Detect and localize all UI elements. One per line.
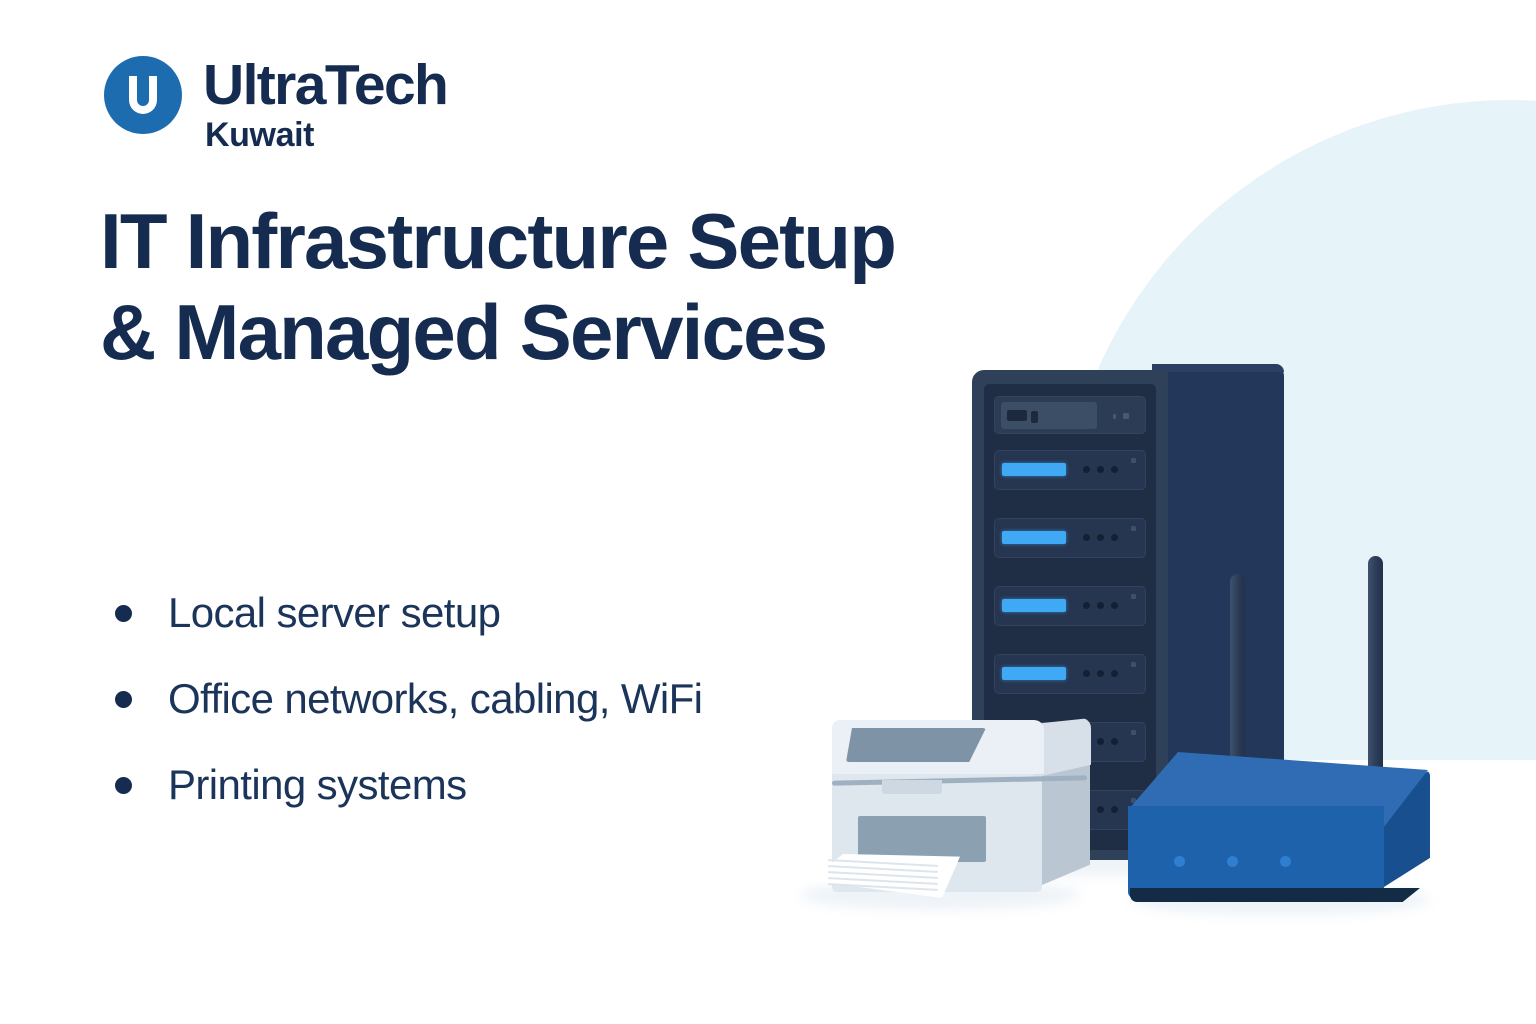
drive-tick-icon <box>1131 526 1136 531</box>
brand-logo[interactable]: UltraTech Kuwait <box>104 52 524 162</box>
drive-indicator-dots-icon <box>1083 534 1118 541</box>
brand-subtitle: Kuwait <box>205 118 314 152</box>
server-status-dot-icon <box>1123 413 1129 419</box>
poster-canvas: UltraTech Kuwait IT Infrastructure Setup… <box>0 0 1536 1024</box>
printer-latch <box>882 780 942 794</box>
server-status-dot-icon <box>1113 414 1116 419</box>
drive-indicator-dots-icon <box>1083 466 1118 473</box>
router-front-face <box>1128 806 1384 898</box>
bullet-dot-icon <box>115 605 132 622</box>
bullet-dot-icon <box>115 777 132 794</box>
bullet-dot-icon <box>115 691 132 708</box>
printer-scanner-glass <box>846 728 986 762</box>
server-top-edge <box>1152 364 1284 372</box>
router-antenna-icon <box>1230 574 1245 786</box>
drive-indicator-dots-icon <box>1083 602 1118 609</box>
paper-text-lines-icon <box>828 859 938 893</box>
list-item-label: Office networks, cabling, WiFi <box>168 678 702 720</box>
router-status-leds-icon <box>1174 856 1291 867</box>
server-power-button-icon <box>1031 411 1038 423</box>
logo-circle-icon <box>104 56 182 134</box>
printer-icon <box>802 704 1102 904</box>
drive-led-icon <box>1002 667 1066 680</box>
server-button-group-icon <box>1007 410 1027 421</box>
list-item-label: Local server setup <box>168 592 500 634</box>
drive-led-icon <box>1002 531 1066 544</box>
server-drive-bay <box>994 518 1146 558</box>
drive-tick-icon <box>1131 458 1136 463</box>
drive-led-icon <box>1002 599 1066 612</box>
wifi-router-icon <box>1120 556 1440 906</box>
brand-name: UltraTech <box>203 57 447 114</box>
server-drive-bay <box>994 450 1146 490</box>
drive-led-icon <box>1002 463 1066 476</box>
it-equipment-illustration <box>780 320 1480 960</box>
list-item-label: Printing systems <box>168 764 467 806</box>
router-base-shadow <box>1130 888 1420 902</box>
drive-indicator-dots-icon <box>1083 670 1118 677</box>
server-control-panel <box>994 396 1146 434</box>
router-antenna-icon <box>1368 556 1383 794</box>
